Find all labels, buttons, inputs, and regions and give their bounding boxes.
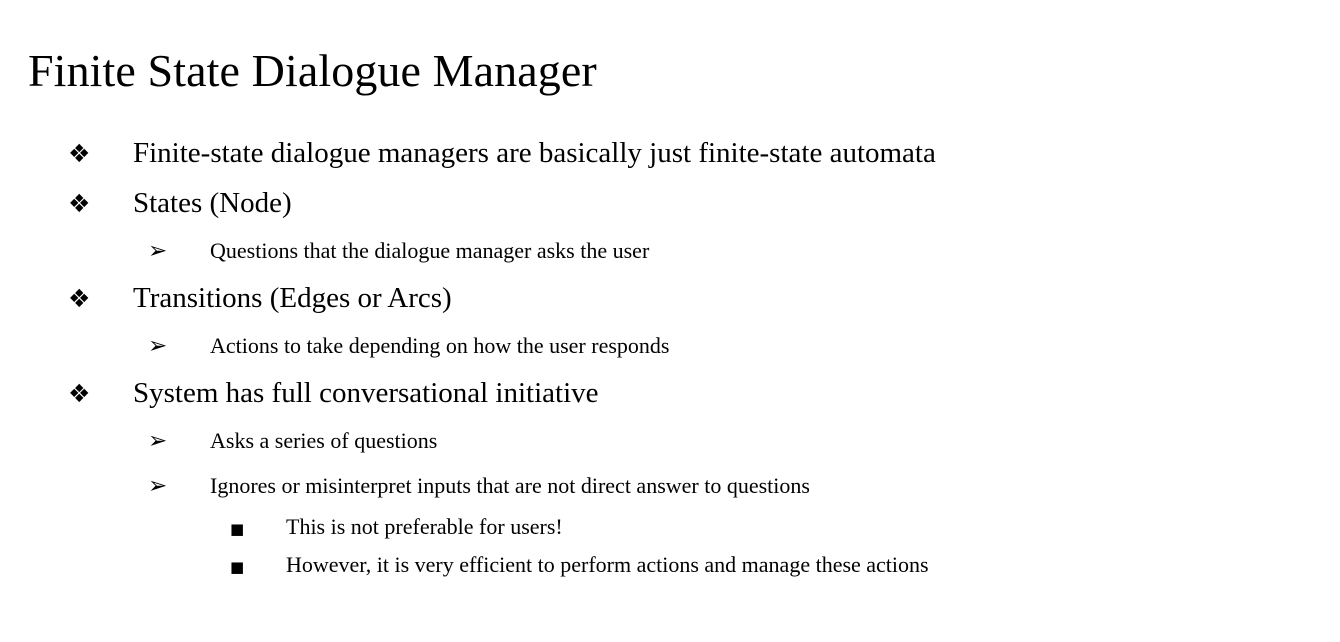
outline-item-level-1: ❖System has full conversational initiati… — [0, 368, 1340, 418]
bullet-icon-level-3: ■ — [230, 510, 286, 548]
bullet-icon-level-2: ➢ — [148, 324, 210, 369]
bullet-icon-level-3: ■ — [230, 548, 286, 586]
bullet-icon-level-1: ❖ — [68, 129, 133, 179]
outline-item-text: Questions that the dialogue manager asks… — [210, 228, 649, 273]
outline-item-text: Transitions (Edges or Arcs) — [133, 273, 452, 323]
outline-item-text: This is not preferable for users! — [286, 508, 563, 546]
slide: Finite State Dialogue Manager ❖Finite-st… — [0, 0, 1340, 642]
bullet-icon-level-2: ➢ — [148, 464, 210, 509]
outline-item-level-1: ❖Transitions (Edges or Arcs) — [0, 273, 1340, 323]
outline-item-text: Finite-state dialogue managers are basic… — [133, 128, 936, 178]
outline-item-text: However, it is very efficient to perform… — [286, 546, 929, 584]
outline-item-text: Asks a series of questions — [210, 418, 437, 463]
outline-item-text: Ignores or misinterpret inputs that are … — [210, 463, 810, 508]
bullet-icon-level-2: ➢ — [148, 229, 210, 274]
bullet-icon-level-1: ❖ — [68, 179, 133, 229]
outline-item-level-1: ❖Finite-state dialogue managers are basi… — [0, 128, 1340, 178]
outline-item-text: States (Node) — [133, 178, 292, 228]
outline-item-level-3: ■However, it is very efficient to perfor… — [0, 546, 1340, 584]
outline-item-level-2: ➢Ignores or misinterpret inputs that are… — [0, 463, 1340, 508]
outline-item-level-1: ❖States (Node) — [0, 178, 1340, 228]
outline-item-level-2: ➢Asks a series of questions — [0, 418, 1340, 463]
outline-item-level-2: ➢Actions to take depending on how the us… — [0, 323, 1340, 368]
outline-item-text: System has full conversational initiativ… — [133, 368, 599, 418]
outline-item-level-3: ■This is not preferable for users! — [0, 508, 1340, 546]
outline-body: ❖Finite-state dialogue managers are basi… — [0, 128, 1340, 584]
outline-item-level-2: ➢Questions that the dialogue manager ask… — [0, 228, 1340, 273]
outline-item-text: Actions to take depending on how the use… — [210, 323, 669, 368]
bullet-icon-level-1: ❖ — [68, 369, 133, 419]
bullet-icon-level-1: ❖ — [68, 274, 133, 324]
bullet-icon-level-2: ➢ — [148, 419, 210, 464]
page-title: Finite State Dialogue Manager — [28, 43, 597, 99]
